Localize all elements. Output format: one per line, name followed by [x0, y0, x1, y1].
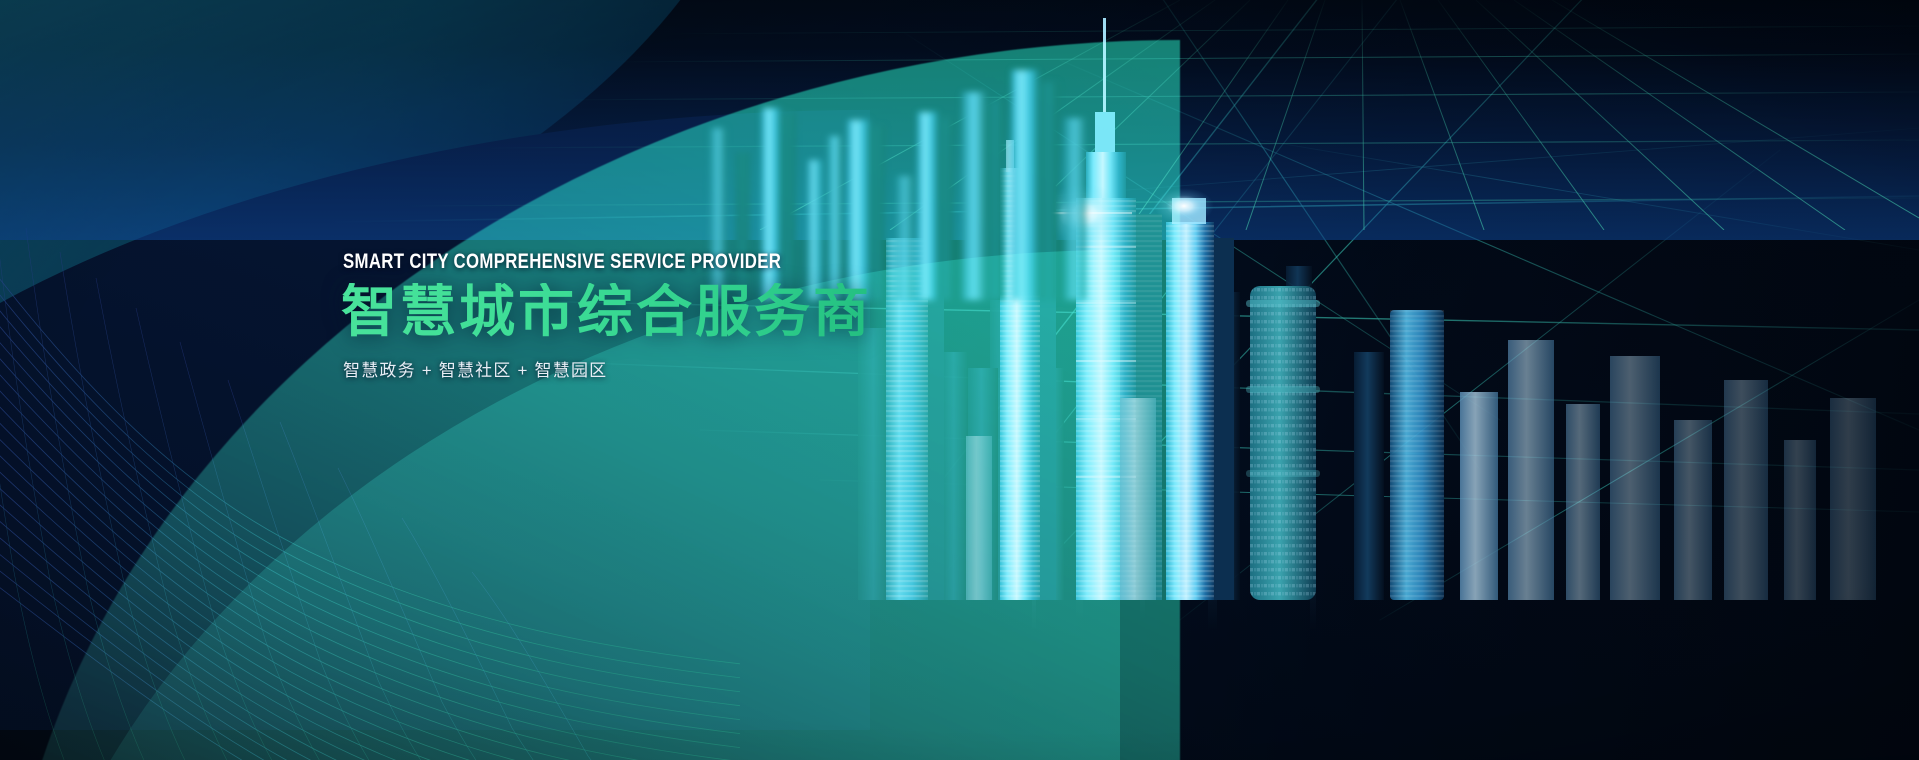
hero-headline-text: 智慧城市综合服务商: [341, 283, 1121, 342]
green-swoosh-decoration: [0, 40, 1180, 760]
hero-copy-block: SMART CITY COMPREHENSIVE SERVICE PROVIDE…: [341, 250, 1121, 381]
hero-banner: SMART CITY COMPREHENSIVE SERVICE PROVIDE…: [0, 0, 1919, 760]
ground-glow: [0, 0, 1919, 240]
hero-eyebrow-text: SMART CITY COMPREHENSIVE SERVICE PROVIDE…: [343, 250, 965, 274]
hero-tagline-text: 智慧政务 + 智慧社区 + 智慧园区: [343, 356, 1121, 381]
perspective-ground-grid: [0, 0, 1919, 230]
navy-swoosh-mask: [0, 110, 870, 730]
